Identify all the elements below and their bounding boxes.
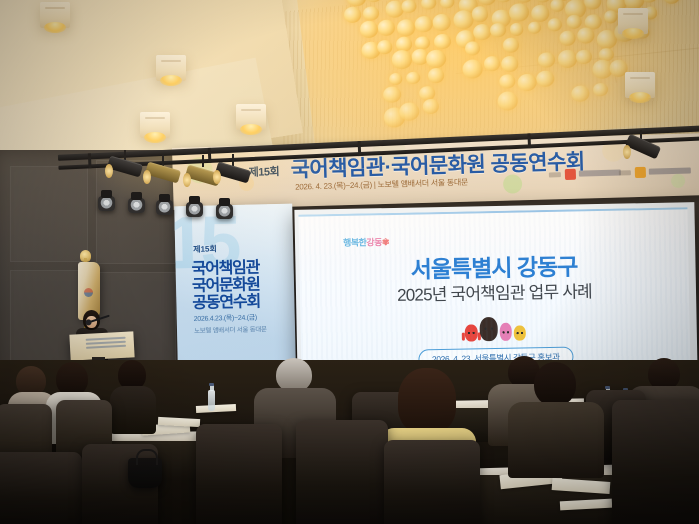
handbag xyxy=(128,458,162,488)
standing-banner: 15 제15회 국어책임관 국어문화원 공동연수회 2026.4.23.(목)~… xyxy=(174,204,296,367)
podium-plate xyxy=(86,337,127,353)
chair xyxy=(196,424,282,524)
par-light-icon xyxy=(156,200,173,215)
projection-screen: 행복한강동✾ 서울특별시 강동구 2025년 국어책임관 업무 사례 2026.… xyxy=(294,202,697,382)
downlight-icon xyxy=(40,2,70,28)
standing-banner-date: 2026.4.23.(목)~24.(금) xyxy=(194,313,257,324)
par-light-icon xyxy=(98,196,115,211)
chair xyxy=(612,400,699,524)
standing-banner-edition: 제15회 xyxy=(193,243,217,255)
chair xyxy=(0,452,82,524)
standing-banner-line3: 공동연수회 xyxy=(192,287,260,313)
downlight-icon xyxy=(618,8,648,34)
downlight-icon xyxy=(156,55,186,81)
downlight-icon xyxy=(625,72,655,98)
downlight-icon xyxy=(236,104,266,130)
par-light-icon xyxy=(128,198,145,213)
water-bottle xyxy=(208,390,215,411)
slide-content: 행복한강동✾ 서울특별시 강동구 2025년 국어책임관 업무 사례 2026.… xyxy=(298,207,690,375)
downlight-icon xyxy=(140,112,170,138)
conference-hall-photo: 제15회 국어책임관·국어문화원 공동연수회 2026. 4. 23.(목)~2… xyxy=(0,0,699,524)
screen-glare xyxy=(298,207,690,375)
standing-banner-venue: 노보텔 앰배서더 서울 동대문 xyxy=(194,323,267,335)
par-light-icon xyxy=(186,202,203,217)
par-light-icon xyxy=(216,204,233,219)
chair xyxy=(384,440,480,524)
chair xyxy=(296,420,388,524)
